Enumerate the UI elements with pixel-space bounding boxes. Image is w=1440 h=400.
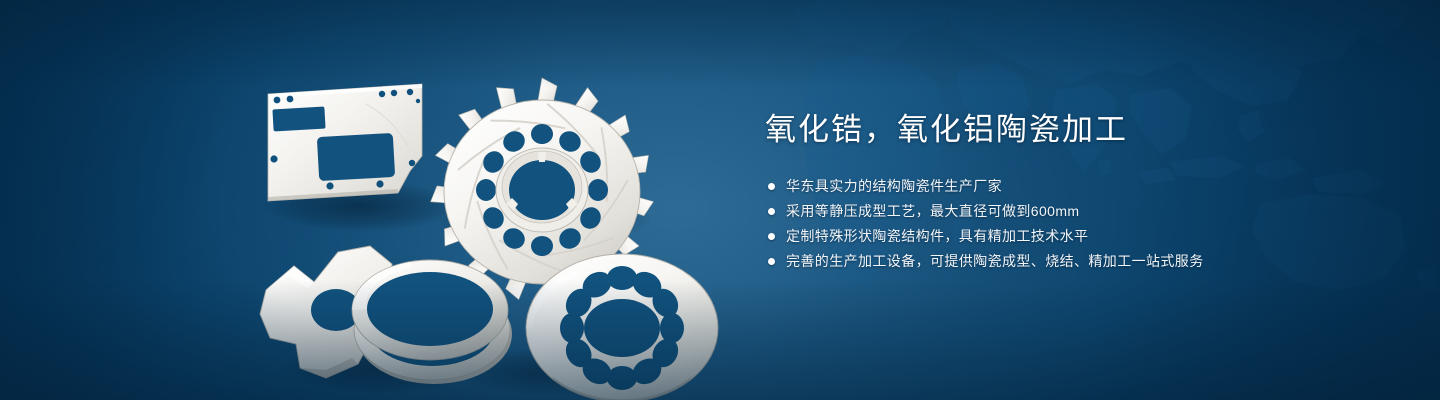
bullet-dot-icon: [768, 258, 775, 265]
feature-text: 采用等静压成型工艺，最大直径可做到600mm: [786, 199, 1079, 223]
promo-banner: 氧化锆，氧化铝陶瓷加工 华东具实力的结构陶瓷件生产厂家 采用等静压成型工艺，最大…: [0, 0, 1440, 400]
bullet-dot-icon: [768, 183, 775, 190]
feature-text: 华东具实力的结构陶瓷件生产厂家: [786, 174, 1002, 198]
banner-copy: 氧化锆，氧化铝陶瓷加工 华东具实力的结构陶瓷件生产厂家 采用等静压成型工艺，最大…: [765, 108, 1385, 274]
feature-list: 华东具实力的结构陶瓷件生产厂家 采用等静压成型工艺，最大直径可做到600mm 定…: [765, 174, 1385, 273]
feature-text: 完善的生产加工设备，可提供陶瓷成型、烧结、精加工一站式服务: [786, 249, 1204, 273]
bullet-dot-icon: [768, 208, 775, 215]
feature-item: 华东具实力的结构陶瓷件生产厂家: [765, 174, 1385, 198]
feature-item: 采用等静压成型工艺，最大直径可做到600mm: [765, 199, 1385, 223]
feature-item: 定制特殊形状陶瓷结构件，具有精加工技术水平: [765, 224, 1385, 248]
feature-item: 完善的生产加工设备，可提供陶瓷成型、烧结、精加工一站式服务: [765, 249, 1385, 273]
feature-text: 定制特殊形状陶瓷结构件，具有精加工技术水平: [786, 224, 1088, 248]
banner-headline: 氧化锆，氧化铝陶瓷加工: [765, 108, 1385, 152]
bullet-dot-icon: [768, 233, 775, 240]
